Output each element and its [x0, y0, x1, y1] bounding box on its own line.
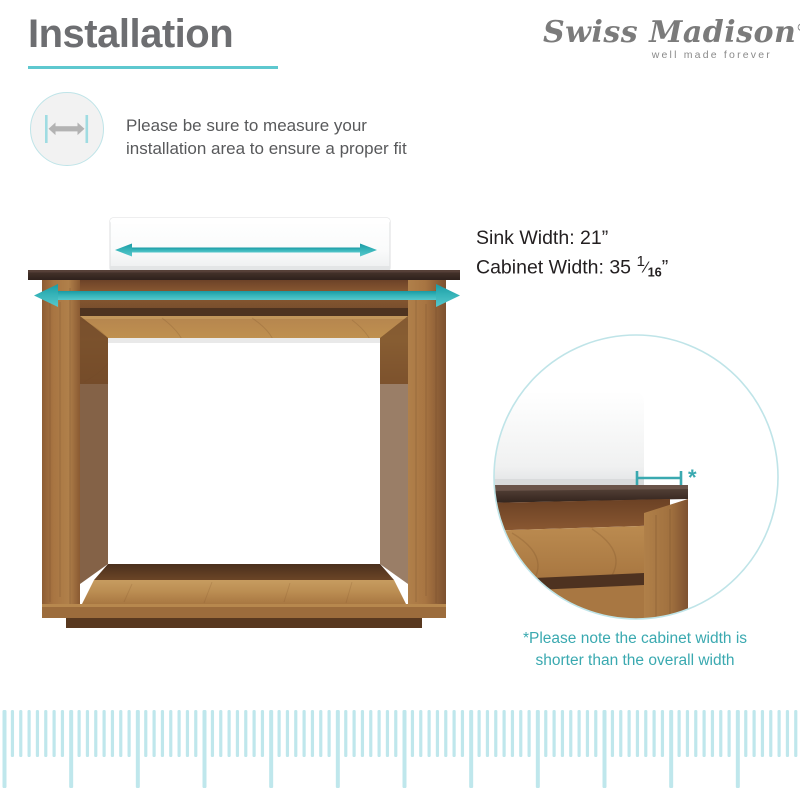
ruler-tick-minor: [694, 710, 697, 757]
ruler-tick-minor: [28, 710, 31, 757]
brand-wordmark-text: Swiss Madison: [543, 15, 796, 50]
ruler-tick-minor: [103, 710, 106, 757]
registered-trademark-icon: ®: [796, 23, 800, 34]
ruler-tick-minor: [236, 710, 239, 757]
ruler-tick-minor: [644, 710, 647, 757]
ruler-tick-minor: [703, 710, 706, 757]
ruler-tick-minor: [111, 710, 114, 757]
ruler-tick-minor: [78, 710, 81, 757]
ruler-tick-minor: [486, 710, 489, 757]
ruler-tick-minor: [303, 710, 306, 757]
ruler-tick-minor: [436, 710, 439, 757]
ruler-tick-minor: [653, 710, 656, 757]
ruler-tick-minor: [353, 710, 356, 757]
ruler-tick-minor: [186, 710, 189, 757]
ruler-tick-minor: [411, 710, 414, 757]
ruler-tick-minor: [503, 710, 506, 757]
ruler-tick-minor: [319, 710, 322, 757]
ruler-tick-minor: [294, 710, 297, 757]
ruler-tick-minor: [228, 710, 231, 757]
measure-instruction-text: Please be sure to measure your installat…: [126, 115, 456, 161]
footnote-line-1: *Please note the cabinet width is: [480, 628, 790, 650]
ruler-tick-minor: [461, 710, 464, 757]
ruler-tick-minor: [161, 710, 164, 757]
ruler-tick-major: [469, 710, 473, 788]
ruler-tick-minor: [211, 710, 214, 757]
ruler-tick-minor: [369, 710, 372, 757]
ruler-tick-minor: [419, 710, 422, 757]
ruler-tick-major: [269, 710, 273, 788]
ruler-tick-minor: [711, 710, 714, 757]
ruler-tick-minor: [628, 710, 631, 757]
cabinet-body: [42, 280, 446, 628]
ruler-tick-minor: [586, 710, 589, 757]
ruler-tick-minor: [361, 710, 364, 757]
ruler-tick-minor: [769, 710, 772, 757]
ruler-tick-minor: [753, 710, 756, 757]
double-arrow-measure-icon: [30, 92, 104, 166]
ruler-tick-minor: [386, 710, 389, 757]
sink-width-label: Sink Width: 21”: [476, 224, 668, 252]
ruler-tick-minor: [678, 710, 681, 757]
ruler-tick-minor: [44, 710, 47, 757]
ruler-tick-minor: [761, 710, 764, 757]
measure-instruction-line-2: installation area to ensure a proper fit: [126, 138, 456, 161]
cabinet-width-label: Cabinet Width: 35 1⁄16”: [476, 252, 668, 283]
ruler-tick-minor: [86, 710, 89, 757]
ruler-tick-major: [69, 710, 73, 788]
ruler-tick-minor: [611, 710, 614, 757]
ruler-tick-minor: [728, 710, 731, 757]
cabinet-width-footnote: *Please note the cabinet width is shorte…: [480, 628, 790, 672]
ruler-tick-minor: [444, 710, 447, 757]
ruler-tick-minor: [394, 710, 397, 757]
ruler-tick-minor: [528, 710, 531, 757]
ruler-tick-minor: [169, 710, 172, 757]
brand-wordmark: Swiss Madison®: [543, 18, 778, 48]
ruler-tick-major: [3, 710, 7, 788]
ruler-tick-major: [136, 710, 140, 788]
ruler-tick-minor: [19, 710, 22, 757]
cabinet-width-whole: 35: [609, 257, 631, 279]
ruler-tick-minor: [344, 710, 347, 757]
ruler-tick-minor: [494, 710, 497, 757]
cabinet-width-unit: ”: [662, 257, 669, 279]
ruler-tick-minor: [744, 710, 747, 757]
ruler-tick-minor: [478, 710, 481, 757]
ruler-tick-minor: [719, 710, 722, 757]
ruler-tick-minor: [544, 710, 547, 757]
dimension-labels: Sink Width: 21” Cabinet Width: 35 1⁄16”: [476, 224, 668, 283]
ruler-tick-minor: [244, 710, 247, 757]
footnote-line-2: shorter than the overall width: [480, 650, 790, 672]
fraction-numerator: 1: [636, 253, 644, 270]
ruler-tick-minor: [786, 710, 789, 757]
ruler-tick-minor: [794, 710, 797, 757]
ruler-tick-minor: [94, 710, 97, 757]
cabinet-width-fraction: 1⁄16: [636, 251, 661, 282]
ruler-tick-minor: [328, 710, 331, 757]
ruler-tick-minor: [661, 710, 664, 757]
ruler-tick-minor: [219, 710, 222, 757]
ruler-tick-minor: [519, 710, 522, 757]
fraction-denominator: 16: [648, 265, 662, 280]
ruler-tick-minor: [194, 710, 197, 757]
cabinet-overhang-detail: *: [492, 333, 780, 621]
ruler-tick-minor: [453, 710, 456, 757]
ruler-tick-minor: [144, 710, 147, 757]
ruler-tick-major: [736, 710, 740, 788]
ruler-tick-minor: [286, 710, 289, 757]
ruler-tick-minor: [253, 710, 256, 757]
ruler-tick-minor: [636, 710, 639, 757]
ruler-tick-minor: [153, 710, 156, 757]
ruler-tick-minor: [569, 710, 572, 757]
ruler-tick-minor: [594, 710, 597, 757]
ruler-tick-minor: [36, 710, 39, 757]
ruler-tick-minor: [619, 710, 622, 757]
ruler-tick-major: [669, 710, 673, 788]
brand-logo: Swiss Madison® well made forever: [543, 18, 778, 74]
vanity-product-illustration: [22, 212, 472, 652]
decorative-ruler-ticks: [0, 700, 800, 800]
ruler-tick-major: [536, 710, 540, 788]
ruler-tick-minor: [311, 710, 314, 757]
ruler-tick-minor: [61, 710, 64, 757]
ruler-tick-minor: [53, 710, 56, 757]
page-title: Installation: [28, 14, 233, 54]
ruler-tick-minor: [428, 710, 431, 757]
ruler-tick-minor: [778, 710, 781, 757]
ruler-tick-minor: [686, 710, 689, 757]
ruler-tick-major: [603, 710, 607, 788]
ruler-tick-minor: [511, 710, 514, 757]
ruler-tick-minor: [553, 710, 556, 757]
asterisk-marker-icon: *: [688, 465, 697, 490]
ruler-tick-minor: [378, 710, 381, 757]
ruler-tick-minor: [178, 710, 181, 757]
cabinet-width-label-text: Cabinet Width:: [476, 257, 604, 279]
title-underline: [28, 66, 278, 69]
ruler-tick-major: [403, 710, 407, 788]
ruler-tick-minor: [11, 710, 14, 757]
ruler-tick-major: [336, 710, 340, 788]
ruler-tick-major: [203, 710, 207, 788]
ruler-tick-minor: [578, 710, 581, 757]
vessel-sink: [110, 218, 390, 271]
ruler-tick-minor: [128, 710, 131, 757]
ruler-tick-minor: [119, 710, 122, 757]
ruler-tick-minor: [261, 710, 264, 757]
brand-tagline: well made forever: [543, 49, 772, 61]
ruler-tick-minor: [278, 710, 281, 757]
countertop: [28, 270, 460, 280]
measure-instruction-line-1: Please be sure to measure your: [126, 115, 456, 138]
ruler-tick-minor: [561, 710, 564, 757]
